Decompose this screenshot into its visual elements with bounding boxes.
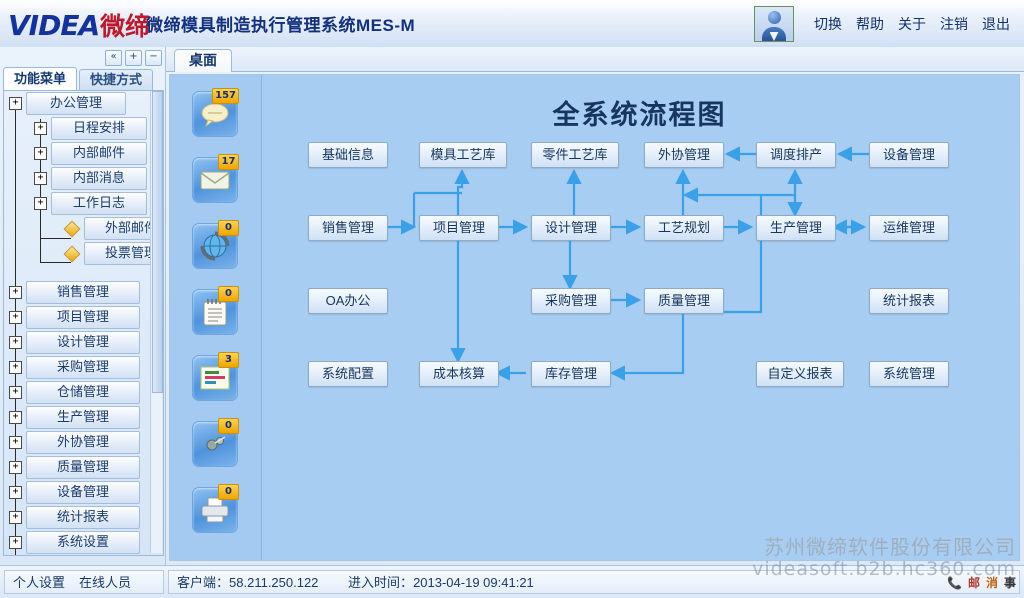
main-content: 桌面 157 [166, 47, 1024, 565]
tree-node-label[interactable]: 仓储管理 [26, 381, 140, 404]
status-left-group: 个人设置 在线人员 [4, 570, 164, 594]
status-client-group: 客户端：58.211.250.122 [177, 571, 318, 594]
flow-node-oa-office[interactable]: OA办公 [308, 288, 388, 314]
flow-node-system-management[interactable]: 系统管理 [869, 361, 949, 387]
tree-node-label[interactable]: 系统设置 [26, 531, 140, 554]
status-login-value: 2013-04-19 09:41:21 [413, 575, 534, 590]
flow-node-operations[interactable]: 运维管理 [869, 215, 949, 241]
tree-node-label[interactable]: 统计报表 [26, 506, 140, 529]
status-personal-settings-link[interactable]: 个人设置 [13, 571, 65, 594]
sidebar-scrollbar-thumb[interactable] [152, 91, 163, 393]
edge-project-to-mold-lib [458, 171, 462, 215]
sidebar-item-production[interactable]: + 生产管理 [4, 405, 163, 430]
avatar-head-icon [768, 11, 781, 24]
flow-node-production[interactable]: 生产管理 [756, 215, 836, 241]
tree-node-label[interactable]: 办公管理 [26, 92, 126, 115]
tree-node-internal-mail[interactable]: + 内部邮件 [4, 141, 163, 166]
sidebar: « + − 功能菜单 快捷方式 + 办公管理 + 日程安排 [0, 47, 166, 565]
desktop-icon-printer[interactable]: 0 [192, 487, 236, 531]
tree-node-work-log[interactable]: + 工作日志 [4, 191, 163, 216]
top-menu-item-logout[interactable]: 注销 [940, 14, 968, 34]
envelope-icon [200, 169, 230, 191]
tree-node-label[interactable]: 采购管理 [26, 356, 140, 379]
status-client-label: 客户端： [177, 575, 229, 590]
desktop-area: 157 17 [169, 74, 1020, 561]
sidebar-item-equipment[interactable]: + 设备管理 [4, 480, 163, 505]
desktop-icon-messages[interactable]: 157 [192, 91, 236, 135]
chart-page-icon [199, 365, 231, 391]
top-menu: 切换 帮助 关于 注销 退出 [814, 14, 1010, 34]
top-menu-item-exit[interactable]: 退出 [982, 14, 1010, 34]
status-login-label: 进入时间： [348, 575, 413, 590]
tree-node-label[interactable]: 销售管理 [26, 281, 140, 304]
flow-node-part-process-lib[interactable]: 零件工艺库 [531, 142, 619, 168]
flow-node-purchase[interactable]: 采购管理 [531, 288, 611, 314]
tree-toggle-icon[interactable]: + [9, 511, 22, 524]
tree-node-label[interactable]: 日程安排 [51, 117, 147, 140]
tree-node-label[interactable]: 内部邮件 [51, 142, 147, 165]
message-tray-icon[interactable]: 消 [986, 574, 998, 591]
flowchart-title: 全系统流程图 [261, 93, 1018, 132]
tree-toggle-icon[interactable]: + [9, 97, 22, 110]
collapse-sidebar-button[interactable]: « [105, 50, 122, 66]
tree-node-external-mail[interactable]: 外部邮件 [4, 216, 163, 241]
tree-leaf-icon [64, 245, 81, 262]
tree-toggle-icon[interactable]: + [34, 172, 47, 185]
application-window: VIDEA 微缔 微缔模具制造执行管理系统MES-M 切换 帮助 关于 注销 退… [0, 0, 1024, 598]
brand-logo: VIDEA 微缔 [8, 7, 150, 43]
sidebar-tabs: 功能菜单 快捷方式 [3, 68, 162, 90]
tree-toggle-icon[interactable]: + [9, 286, 22, 299]
tree-node-internal-message[interactable]: + 内部消息 [4, 166, 163, 191]
logo-chinese-text: 微缔 [100, 7, 150, 43]
tree-node-schedule[interactable]: + 日程安排 [4, 116, 163, 141]
tab-function-menu[interactable]: 功能菜单 [3, 67, 77, 90]
flow-node-mold-process-lib[interactable]: 模具工艺库 [419, 142, 507, 168]
navigation-tree: + 办公管理 + 日程安排 + 内部邮件 + 内部消息 + 工作日志 [3, 90, 164, 556]
badge-count: 0 [218, 418, 239, 434]
status-bar: 个人设置 在线人员 客户端：58.211.250.122 进入时间：2013-0… [0, 565, 1024, 598]
sidebar-item-reports[interactable]: + 统计报表 [4, 505, 163, 530]
tree-node-label[interactable]: 外协管理 [26, 431, 140, 454]
tree-node-vote-management[interactable]: 投票管理 [4, 241, 163, 266]
chat-bubble-icon [200, 101, 230, 127]
status-info-group: 客户端：58.211.250.122 进入时间：2013-04-19 09:41… [168, 570, 1020, 594]
flow-node-outsourcing[interactable]: 外协管理 [644, 142, 724, 168]
main-tabbar: 桌面 [166, 47, 1024, 72]
tree-toggle-icon[interactable]: + [34, 147, 47, 160]
flow-node-cost-accounting[interactable]: 成本核算 [419, 361, 499, 387]
flow-node-system-config[interactable]: 系统配置 [308, 361, 388, 387]
desktop-icon-column: 157 17 [170, 75, 262, 560]
tree-node-label[interactable]: 工作日志 [51, 192, 147, 215]
tree-toggle-icon[interactable]: + [9, 486, 22, 499]
desktop-icon-report[interactable]: 3 [192, 355, 236, 399]
tree-node-label[interactable]: 质量管理 [26, 456, 140, 479]
flow-node-sales[interactable]: 销售管理 [308, 215, 388, 241]
badge-count: 0 [218, 484, 239, 500]
machine-icon [201, 432, 229, 456]
tab-shortcuts[interactable]: 快捷方式 [79, 69, 153, 90]
sidebar-scrollbar[interactable] [150, 91, 162, 553]
system-flowchart: 全系统流程图 [261, 75, 1018, 560]
tree-node-label[interactable]: 生产管理 [26, 406, 140, 429]
mail-tray-icon[interactable]: 邮 [968, 574, 980, 591]
top-menu-item-about[interactable]: 关于 [898, 14, 926, 34]
collapse-all-button[interactable]: − [145, 50, 162, 66]
badge-count: 0 [218, 220, 239, 236]
flow-node-statistics[interactable]: 统计报表 [869, 288, 949, 314]
status-client-value: 58.211.250.122 [229, 575, 318, 590]
tree-toggle-icon[interactable]: + [9, 336, 22, 349]
flow-node-design[interactable]: 设计管理 [531, 215, 611, 241]
tree-node-label[interactable]: 项目管理 [26, 306, 140, 329]
tree-toggle-icon[interactable]: + [9, 411, 22, 424]
sidebar-toolbar: « + − [105, 50, 162, 66]
status-tray: 📞 邮 消 事 [947, 574, 1016, 591]
flow-node-inventory[interactable]: 库存管理 [531, 361, 611, 387]
tree-node-office-management[interactable]: + 办公管理 [4, 91, 163, 116]
tree-toggle-icon[interactable]: + [9, 361, 22, 374]
flow-node-project[interactable]: 项目管理 [419, 215, 499, 241]
tree-toggle-icon[interactable]: + [9, 386, 22, 399]
edge-quality-to-inventory [612, 312, 683, 373]
tab-desktop[interactable]: 桌面 [174, 49, 232, 72]
app-header: VIDEA 微缔 微缔模具制造执行管理系统MES-M 切换 帮助 关于 注销 退… [0, 0, 1024, 48]
avatar[interactable] [754, 6, 794, 42]
copier-icon [199, 496, 231, 524]
edge-segment-quality-riser [722, 195, 761, 312]
tree-toggle-icon[interactable]: + [9, 461, 22, 474]
task-tray-icon[interactable]: 事 [1004, 574, 1016, 591]
flow-node-process-planning[interactable]: 工艺规划 [644, 215, 724, 241]
desktop-icon-document[interactable]: 0 [192, 289, 236, 333]
sidebar-item-purchase[interactable]: + 采购管理 [4, 355, 163, 380]
top-menu-item-switch[interactable]: 切换 [814, 14, 842, 34]
logo-latin-text: VIDEA [8, 9, 99, 42]
flow-node-basic-info[interactable]: 基础信息 [308, 142, 388, 168]
sidebar-item-project[interactable]: + 项目管理 [4, 305, 163, 330]
badge-count: 157 [212, 88, 239, 104]
page-title: 微缔模具制造执行管理系统MES-M [146, 11, 415, 36]
badge-count: 17 [218, 154, 239, 170]
tree-toggle-icon[interactable]: + [34, 197, 47, 210]
sidebar-item-outsourcing[interactable]: + 外协管理 [4, 430, 163, 455]
tree-toggle-icon[interactable]: + [9, 536, 22, 549]
sidebar-item-warehouse[interactable]: + 仓储管理 [4, 380, 163, 405]
desktop-icon-mail[interactable]: 17 [192, 157, 236, 201]
status-login-time-group: 进入时间：2013-04-19 09:41:21 [348, 571, 534, 594]
flow-node-quality[interactable]: 质量管理 [644, 288, 724, 314]
flow-node-custom-report[interactable]: 自定义报表 [756, 361, 844, 387]
sidebar-item-design[interactable]: + 设计管理 [4, 330, 163, 355]
sidebar-item-system-settings[interactable]: + 系统设置 [4, 530, 163, 555]
top-menu-item-help[interactable]: 帮助 [856, 14, 884, 34]
tree-toggle-icon[interactable]: + [9, 436, 22, 449]
flow-node-equipment[interactable]: 设备管理 [869, 142, 949, 168]
desktop-icon-web[interactable]: 0 [192, 223, 236, 267]
status-online-users-link[interactable]: 在线人员 [79, 571, 131, 594]
tree-node-label[interactable]: 设备管理 [26, 481, 140, 504]
tree-toggle-icon[interactable]: + [9, 311, 22, 324]
sidebar-item-sales[interactable]: + 销售管理 [4, 280, 163, 305]
tree-leaf-icon [64, 220, 81, 237]
flow-node-scheduling[interactable]: 调度排产 [756, 142, 836, 168]
expand-all-button[interactable]: + [125, 50, 142, 66]
badge-count: 0 [218, 286, 239, 302]
tree-node-label[interactable]: 内部消息 [51, 167, 147, 190]
badge-count: 3 [218, 352, 239, 368]
desktop-icon-gears[interactable]: 0 [192, 421, 236, 465]
tree-node-label[interactable]: 设计管理 [26, 331, 140, 354]
phone-icon[interactable]: 📞 [947, 576, 962, 590]
tree-toggle-icon[interactable]: + [34, 122, 47, 135]
sidebar-item-quality[interactable]: + 质量管理 [4, 455, 163, 480]
